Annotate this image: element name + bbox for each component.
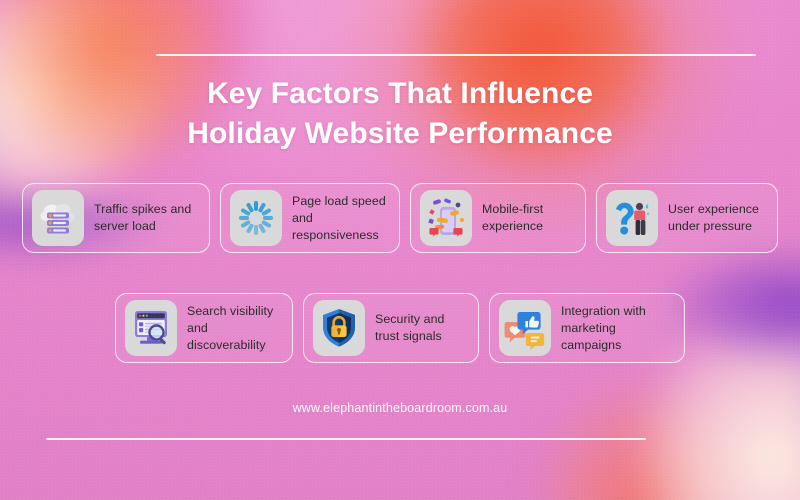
loading-spinner-icon — [230, 190, 282, 246]
mobile-phone-icon — [420, 190, 472, 246]
factor-label: User experience under pressure — [668, 201, 765, 235]
monitor-search-icon — [125, 300, 177, 356]
factor-label: Traffic spikes and server load — [94, 201, 197, 235]
factor-row-2: Search visibility and discoverability — [0, 293, 800, 363]
factor-card-user-experience[interactable]: User experience under pressure — [596, 183, 778, 253]
shield-lock-icon — [313, 300, 365, 356]
factor-label: Integration with marketing campaigns — [561, 303, 672, 354]
factor-label: Mobile-first experience — [482, 201, 573, 235]
website-url[interactable]: www.elephantintheboardroom.com.au — [0, 401, 800, 415]
poster-content: Key Factors That Influence Holiday Websi… — [0, 0, 800, 500]
divider-top — [156, 54, 756, 56]
factor-card-traffic-spikes[interactable]: Traffic spikes and server load — [22, 183, 210, 253]
factor-card-marketing-integration[interactable]: Integration with marketing campaigns — [489, 293, 685, 363]
factor-card-search-visibility[interactable]: Search visibility and discoverability — [115, 293, 293, 363]
infographic-poster: Key Factors That Influence Holiday Websi… — [0, 0, 800, 500]
cloud-server-icon — [32, 190, 84, 246]
divider-bottom — [46, 438, 646, 440]
factor-card-security-trust[interactable]: Security and trust signals — [303, 293, 479, 363]
title-line-2: Holiday Website Performance — [0, 114, 800, 154]
factor-card-mobile-first[interactable]: Mobile-first experience — [410, 183, 586, 253]
question-mark-person-icon — [606, 190, 658, 246]
factor-row-1: Traffic spikes and server load — [0, 183, 800, 253]
factor-card-page-load-speed[interactable]: Page load speed and responsiveness — [220, 183, 400, 253]
social-engagement-icon — [499, 300, 551, 356]
factor-label: Page load speed and responsiveness — [292, 193, 387, 244]
factor-label: Search visibility and discoverability — [187, 303, 280, 354]
title-line-1: Key Factors That Influence — [0, 74, 800, 114]
page-title: Key Factors That Influence Holiday Websi… — [0, 74, 800, 154]
factor-label: Security and trust signals — [375, 311, 466, 345]
